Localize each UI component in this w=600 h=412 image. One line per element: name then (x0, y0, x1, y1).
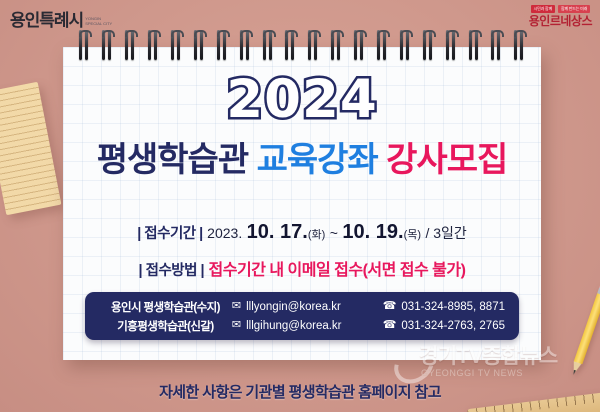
year-title: 2024 (63, 73, 541, 126)
contact-row: 용인시 평생학습관(수지) ✉ lllyongin@korea.kr ☎ 031… (99, 299, 505, 315)
contact-email[interactable]: ✉ lllyongin@korea.kr (232, 301, 383, 313)
contact-phone-text: 031-324-2763, 2765 (401, 320, 505, 332)
contact-phone[interactable]: ☎ 031-324-2763, 2765 (383, 320, 505, 332)
headline: 평생학습관 교육강좌 강사모집 (63, 143, 541, 177)
period-tilde: ~ (330, 225, 338, 241)
contact-phone-text: 031-324-8985, 8871 (401, 301, 505, 313)
period-duration: / 3일간 (425, 225, 466, 241)
contact-email-text: lllgihung@korea.kr (246, 320, 341, 332)
telephone-icon: ☎ (383, 301, 397, 312)
notepad-decoration (0, 82, 61, 215)
headline-part-2: 교육강좌 (257, 141, 378, 179)
period-year: 2023. (207, 225, 242, 241)
application-method-row: | 접수방법 | 접수기간 내 이메일 접수(서면 접수 불가) (63, 256, 541, 280)
contact-email[interactable]: ✉ lllgihung@korea.kr (232, 320, 383, 332)
application-period-label: | 접수기간 | (137, 226, 203, 242)
yongin-city-logo: 용인특례시 YONGIN SPECIAL CITY (10, 12, 112, 29)
contact-org: 기흥평생학습관(신갈) (99, 318, 232, 334)
renaissance-logo-mark: 용인르네상스 (529, 15, 592, 27)
renaissance-tag-1: 시민과 함께 (531, 5, 555, 13)
headline-part-3: 강사모집 (386, 141, 507, 179)
application-method-label: | 접수방법 | (139, 263, 205, 279)
period-start-date: 10. 17. (247, 221, 308, 243)
contact-box: 용인시 평생학습관(수지) ✉ lllyongin@korea.kr ☎ 031… (85, 292, 519, 340)
contact-org: 용인시 평생학습관(수지) (99, 299, 232, 315)
pencil-decoration (569, 284, 600, 378)
application-method-value: 접수기간 내 이메일 접수(서면 접수 불가) (209, 262, 466, 279)
contact-email-text: lllyongin@korea.kr (246, 301, 341, 313)
pencil-body (574, 293, 600, 364)
renaissance-tag-2: 함께 만드는 미래 (558, 5, 590, 13)
contact-phone[interactable]: ☎ 031-324-8985, 8871 (383, 301, 505, 313)
envelope-icon: ✉ (232, 301, 241, 312)
footer-note: 자세한 사항은 기관별 평생학습관 홈페이지 참고 (0, 381, 600, 402)
watermark-sub-text: GYEONGGI TV NEWS (421, 368, 523, 378)
yongin-renaissance-logo: 시민과 함께 함께 만드는 미래 용인르네상스 (529, 5, 592, 27)
period-end-date: 10. 19. (342, 221, 403, 243)
yongin-city-logo-sub: YONGIN SPECIAL CITY (85, 16, 112, 29)
renaissance-tag-row: 시민과 함께 함께 만드는 미래 (529, 5, 592, 13)
poster-root: 용인특례시 YONGIN SPECIAL CITY 시민과 함께 함께 만드는 … (0, 0, 600, 412)
contact-row: 기흥평생학습관(신갈) ✉ lllgihung@korea.kr ☎ 031-3… (99, 318, 505, 334)
telephone-icon: ☎ (383, 320, 397, 331)
headline-part-1: 평생학습관 (97, 141, 248, 179)
period-end-weekday: (목) (404, 229, 421, 241)
notepad-lines (0, 82, 61, 215)
application-period-row: | 접수기간 | 2023. 10. 17.(화) ~ 10. 19.(목) /… (63, 221, 541, 244)
envelope-icon: ✉ (232, 320, 241, 331)
period-start-weekday: (화) (308, 229, 325, 241)
yongin-city-logo-mark: 용인특례시 (10, 12, 83, 29)
poster-content: 2024 평생학습관 교육강좌 강사모집 | 접수기간 | 2023. 10. … (63, 47, 541, 360)
